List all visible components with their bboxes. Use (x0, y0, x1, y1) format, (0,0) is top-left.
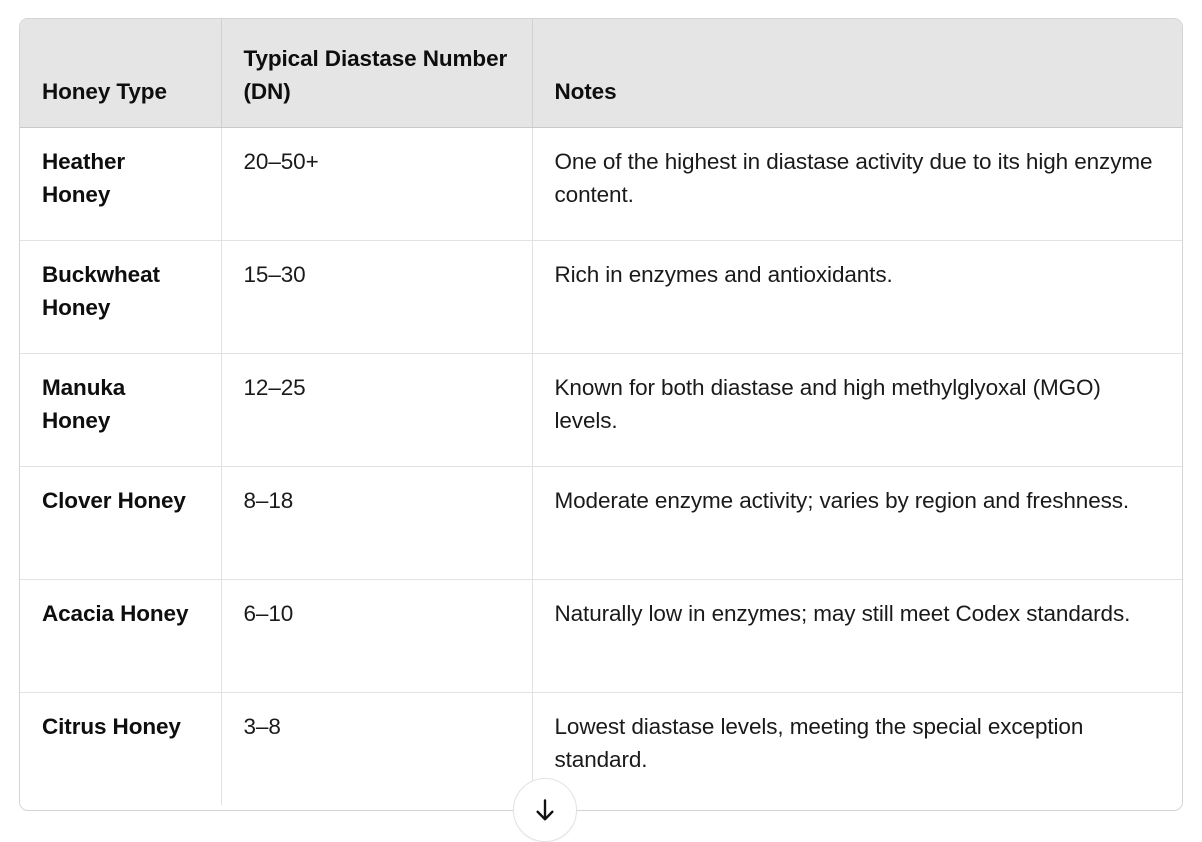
table-header: Honey Type Typical Diastase Number (DN) … (20, 19, 1182, 127)
column-header-notes: Notes (532, 19, 1182, 127)
cell-notes: Moderate enzyme activity; varies by regi… (532, 466, 1182, 579)
cell-notes: Lowest diastase levels, meeting the spec… (532, 692, 1182, 805)
cell-honey-type: Buckwheat Honey (20, 240, 221, 353)
cell-diastase-number: 20–50+ (221, 127, 532, 240)
cell-notes: One of the highest in diastase activity … (532, 127, 1182, 240)
table-row: Buckwheat Honey 15–30 Rich in enzymes an… (20, 240, 1182, 353)
cell-diastase-number: 6–10 (221, 579, 532, 692)
cell-honey-type: Heather Honey (20, 127, 221, 240)
table-row: Clover Honey 8–18 Moderate enzyme activi… (20, 466, 1182, 579)
table-header-row: Honey Type Typical Diastase Number (DN) … (20, 19, 1182, 127)
cell-notes: Known for both diastase and high methylg… (532, 353, 1182, 466)
table-body: Heather Honey 20–50+ One of the highest … (20, 127, 1182, 805)
cell-diastase-number: 12–25 (221, 353, 532, 466)
page-root: Honey Type Typical Diastase Number (DN) … (0, 0, 1202, 838)
table-row: Manuka Honey 12–25 Known for both diasta… (20, 353, 1182, 466)
cell-notes: Naturally low in enzymes; may still meet… (532, 579, 1182, 692)
scroll-down-button[interactable] (513, 778, 577, 842)
cell-honey-type: Clover Honey (20, 466, 221, 579)
cell-diastase-number: 3–8 (221, 692, 532, 805)
cell-honey-type: Acacia Honey (20, 579, 221, 692)
column-header-diastase-number: Typical Diastase Number (DN) (221, 19, 532, 127)
arrow-down-icon (530, 795, 560, 825)
cell-notes: Rich in enzymes and antioxidants. (532, 240, 1182, 353)
table-row: Heather Honey 20–50+ One of the highest … (20, 127, 1182, 240)
cell-honey-type: Citrus Honey (20, 692, 221, 805)
cell-diastase-number: 8–18 (221, 466, 532, 579)
cell-diastase-number: 15–30 (221, 240, 532, 353)
honey-table-container[interactable]: Honey Type Typical Diastase Number (DN) … (19, 18, 1183, 811)
table-row: Acacia Honey 6–10 Naturally low in enzym… (20, 579, 1182, 692)
column-header-honey-type: Honey Type (20, 19, 221, 127)
table-row: Citrus Honey 3–8 Lowest diastase levels,… (20, 692, 1182, 805)
honey-diastase-table: Honey Type Typical Diastase Number (DN) … (20, 19, 1182, 805)
cell-honey-type: Manuka Honey (20, 353, 221, 466)
